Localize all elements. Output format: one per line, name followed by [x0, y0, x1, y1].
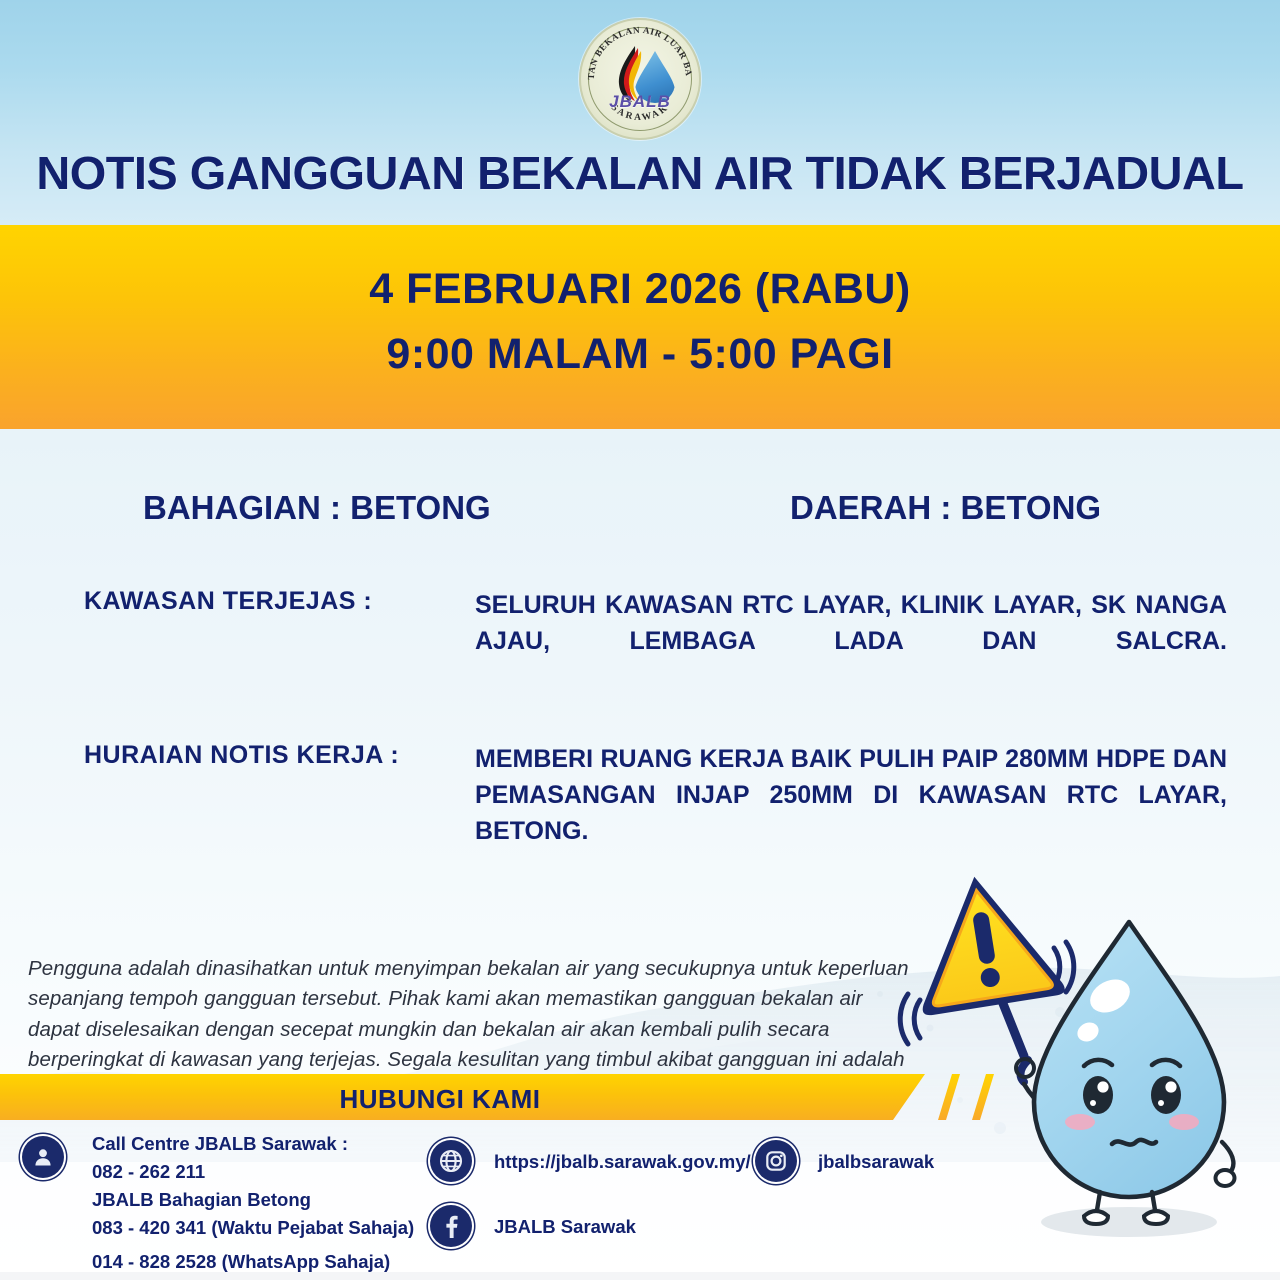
- call-centre-number[interactable]: 082 - 262 211: [92, 1158, 414, 1186]
- facebook-page-name[interactable]: JBALB Sarawak: [494, 1216, 636, 1238]
- branch-title: JBALB Bahagian Betong: [92, 1186, 414, 1214]
- region-row: BAHAGIAN : BETONG DAERAH : BETONG: [0, 489, 1280, 539]
- facebook-icon: [430, 1205, 472, 1247]
- notice-date: 4 FEBRUARI 2026 (RABU): [0, 265, 1280, 314]
- bahagian-label: BAHAGIAN : BETONG: [143, 489, 491, 527]
- header-band: JABATAN BEKALAN AIR LUAR BANDAR SARAWAK …: [0, 0, 1280, 225]
- person-icon: [22, 1136, 64, 1178]
- page-title: NOTIS GANGGUAN BEKALAN AIR TIDAK BERJADU…: [0, 146, 1280, 200]
- banner-stripe-1: [938, 1074, 972, 1120]
- website-url[interactable]: https://jbalb.sarawak.gov.my/: [494, 1151, 751, 1173]
- notice-poster: JABATAN BEKALAN AIR LUAR BANDAR SARAWAK …: [0, 0, 1280, 1280]
- branch-number[interactable]: 083 - 420 341 (Waktu Pejabat Sahaja): [92, 1214, 414, 1242]
- banner-stripe-2: [972, 1074, 1006, 1120]
- contact-details: Call Centre JBALB Sarawak : 082 - 262 21…: [0, 1124, 1280, 1280]
- globe-icon: [430, 1140, 472, 1182]
- call-centre-block: Call Centre JBALB Sarawak : 082 - 262 21…: [92, 1130, 414, 1280]
- jbalb-logo: JABATAN BEKALAN AIR LUAR BANDAR SARAWAK …: [579, 18, 701, 140]
- kawasan-terjejas-label: KAWASAN TERJEJAS :: [84, 587, 372, 616]
- daerah-label: DAERAH : BETONG: [790, 489, 1101, 527]
- bottom-edge-strip: [0, 1272, 1280, 1280]
- instagram-icon: [755, 1140, 797, 1182]
- kawasan-terjejas-value: SELURUH KAWASAN RTC LAYAR, KLINIK LAYAR,…: [475, 587, 1227, 695]
- notice-time: 9:00 MALAM - 5:00 PAGI: [0, 330, 1280, 379]
- notice-body: BAHAGIAN : BETONG DAERAH : BETONG KAWASA…: [0, 429, 1280, 1280]
- warning-triangle-sign: [903, 866, 1065, 1017]
- contact-banner: HUBUNGI KAMI: [0, 1074, 1280, 1120]
- date-time-band: 4 FEBRUARI 2026 (RABU) 9:00 MALAM - 5:00…: [0, 225, 1280, 429]
- huraian-notis-kerja-value: MEMBERI RUANG KERJA BAIK PULIH PAIP 280M…: [475, 741, 1227, 885]
- huraian-notis-kerja-label: HURAIAN NOTIS KERJA :: [84, 741, 399, 770]
- instagram-handle[interactable]: jbalbsarawak: [818, 1151, 934, 1173]
- logo-acronym: JBALB: [579, 92, 701, 112]
- contact-banner-label: HUBUNGI KAMI: [0, 1084, 880, 1115]
- call-centre-title: Call Centre JBALB Sarawak :: [92, 1130, 414, 1158]
